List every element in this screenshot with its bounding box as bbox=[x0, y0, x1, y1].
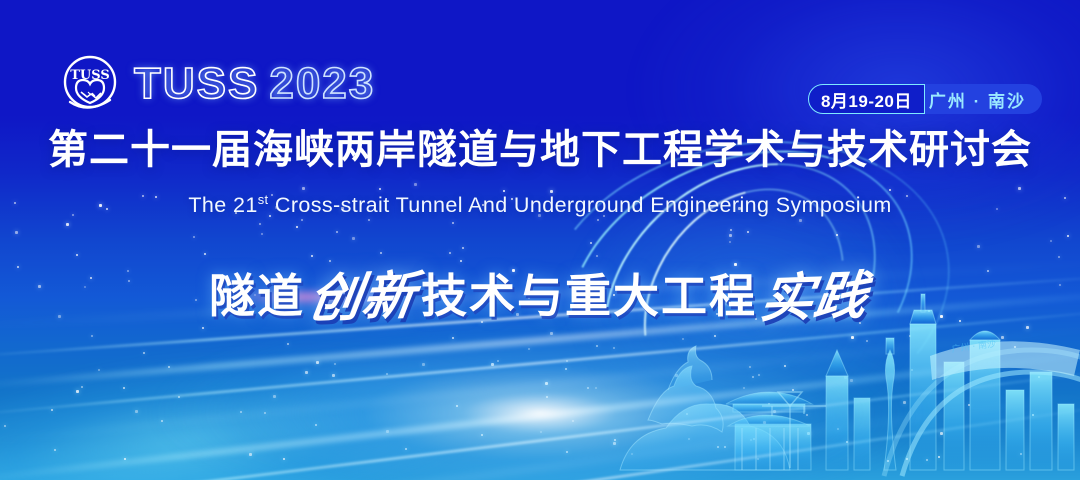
star-particle bbox=[66, 223, 69, 226]
slogan-part-2-calligraphy: 创新 bbox=[301, 253, 424, 332]
star-particle bbox=[15, 231, 18, 234]
star-particle bbox=[380, 252, 382, 254]
star-particle bbox=[414, 183, 417, 186]
tuss-wordmark-text: TUSS bbox=[134, 62, 259, 106]
title-en-ordinal-suffix: st bbox=[258, 192, 269, 207]
star-particle bbox=[301, 219, 303, 221]
conference-banner: 广州 · 南沙 TUSS bbox=[0, 0, 1080, 480]
tuss-wordmark: TUSS 2023 bbox=[134, 62, 375, 106]
star-particle bbox=[336, 231, 338, 233]
star-particle bbox=[452, 222, 454, 224]
event-meta: 8月19-20日 广州 · 南沙 bbox=[808, 84, 1042, 114]
star-particle bbox=[296, 226, 298, 228]
title-en-prefix: The 21 bbox=[188, 193, 257, 217]
conference-title-en: The 21st Cross-strait Tunnel And Undergr… bbox=[0, 192, 1080, 218]
title-en-rest: Cross-strait Tunnel And Underground Engi… bbox=[275, 193, 892, 217]
tuss-logo: TUSS TUSS 2023 bbox=[58, 52, 375, 116]
svg-text:TUSS: TUSS bbox=[70, 68, 110, 83]
star-particle bbox=[368, 219, 370, 221]
star-particle bbox=[259, 223, 261, 225]
star-particle bbox=[462, 247, 464, 249]
event-date-badge: 8月19-20日 bbox=[808, 84, 925, 114]
star-particle bbox=[193, 236, 195, 238]
banner-header: TUSS TUSS 2023 8月19-20日 广州 · 南沙 bbox=[0, 0, 1080, 120]
conference-title-cn: 第二十一届海峡两岸隧道与地下工程学术与技术研讨会 bbox=[0, 128, 1080, 172]
star-particle bbox=[261, 233, 263, 235]
slogan-part-3: 技术与重大工程 bbox=[421, 260, 757, 326]
conference-slogan: 隧道 创新 技术与重大工程 实践 bbox=[0, 255, 1080, 330]
star-particle bbox=[1050, 240, 1052, 242]
slogan-part-1: 隧道 bbox=[209, 260, 305, 326]
star-particle bbox=[352, 237, 355, 240]
tuss-emblem-icon: TUSS bbox=[58, 52, 122, 116]
star-particle bbox=[977, 245, 980, 248]
star-particle bbox=[1067, 235, 1069, 237]
slogan-part-4-calligraphy: 实践 bbox=[753, 253, 876, 332]
event-location-badge: 广州 · 南沙 bbox=[911, 84, 1042, 114]
tuss-wordmark-year: 2023 bbox=[269, 62, 375, 106]
star-particle bbox=[302, 187, 305, 190]
star-particle bbox=[379, 188, 381, 190]
